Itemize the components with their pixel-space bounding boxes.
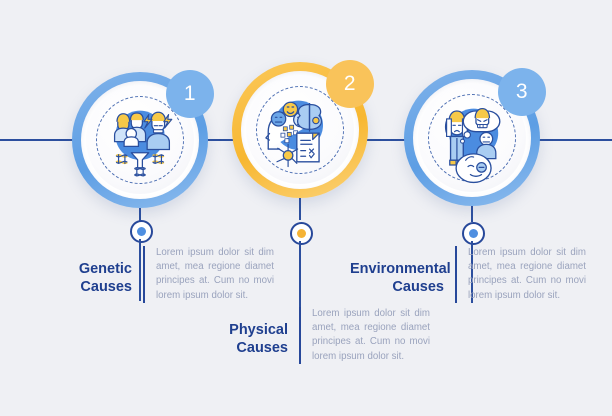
step-number-2: 2 xyxy=(344,72,356,96)
text-block-environmental: Environmental Causes Lorem ipsum dolor s… xyxy=(350,246,586,303)
step-number-3: 3 xyxy=(516,80,528,104)
stem-3 xyxy=(471,206,473,222)
step-badge-1: 1 xyxy=(166,70,214,118)
heading-genetic: Genetic Causes xyxy=(72,246,143,303)
body-physical: Lorem ipsum dolor sit dim amet, mea regi… xyxy=(301,307,430,364)
timeline-dot-1[interactable] xyxy=(130,220,153,243)
text-block-physical: Physical Causes Lorem ipsum dolor sit di… xyxy=(228,307,430,364)
body-environmental: Lorem ipsum dolor sit dim amet, mea regi… xyxy=(457,246,586,303)
step-number-1: 1 xyxy=(184,82,196,106)
body-genetic: Lorem ipsum dolor sit dim amet, mea regi… xyxy=(145,246,274,303)
heading-environmental: Environmental Causes xyxy=(350,246,455,303)
timeline-node-2[interactable]: 2 xyxy=(232,62,368,198)
timeline-dot-3[interactable] xyxy=(462,222,485,245)
text-block-genetic: Genetic Causes Lorem ipsum dolor sit dim… xyxy=(72,246,274,303)
infographic-canvas: 1 xyxy=(0,0,612,416)
step-badge-3: 3 xyxy=(498,68,546,116)
timeline-node-1[interactable]: 1 xyxy=(72,72,208,208)
heading-physical: Physical Causes xyxy=(228,307,299,364)
step-badge-2: 2 xyxy=(326,60,374,108)
timeline-dot-2[interactable] xyxy=(290,222,313,245)
timeline-node-3[interactable]: 3 xyxy=(404,70,540,206)
stem-2 xyxy=(299,198,301,220)
